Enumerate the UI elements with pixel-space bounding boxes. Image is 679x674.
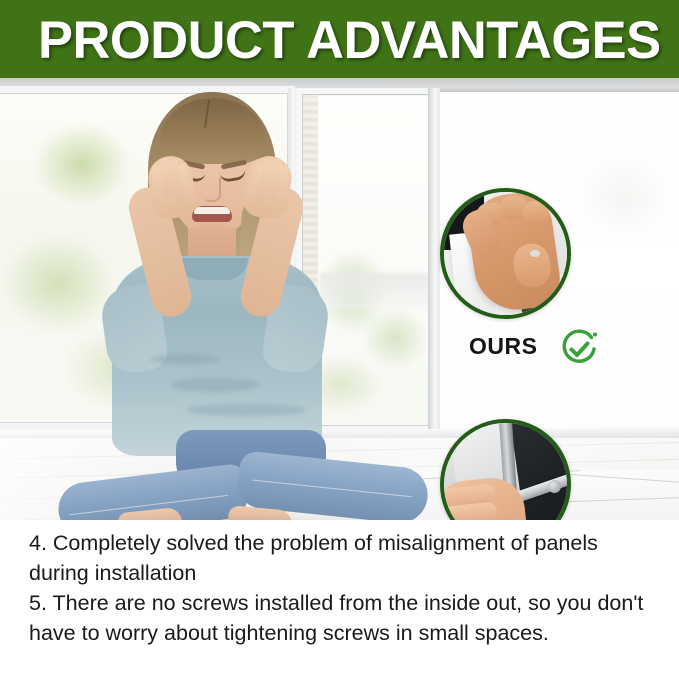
advantages-text: 4. Completely solved the problem of misa… bbox=[29, 528, 654, 648]
knuckle bbox=[511, 241, 553, 290]
comparison-photo-others bbox=[440, 419, 571, 520]
shirt-fold bbox=[170, 378, 260, 392]
mouth bbox=[192, 206, 232, 222]
tshirt-collar bbox=[178, 258, 248, 280]
check-circle-icon bbox=[558, 328, 600, 370]
comparison-photo-ours bbox=[440, 188, 571, 319]
finger bbox=[277, 164, 289, 205]
others-screw-head bbox=[548, 480, 561, 493]
denim-seam bbox=[252, 480, 411, 498]
header-banner: PRODUCT ADVANTAGES bbox=[0, 0, 679, 78]
product-advantages-page: PRODUCT ADVANTAGES bbox=[0, 0, 679, 674]
lifestyle-photo: OURS OTHERS bbox=[0, 78, 679, 520]
nose bbox=[205, 178, 221, 202]
page-title: PRODUCT ADVANTAGES bbox=[38, 13, 661, 69]
advantage-line-5: 5. There are no screws installed from th… bbox=[29, 588, 654, 648]
shirt-fold bbox=[150, 354, 220, 364]
ours-ring bbox=[530, 250, 540, 257]
advantage-line-4: 4. Completely solved the problem of misa… bbox=[29, 528, 654, 588]
shirt-fold bbox=[186, 404, 306, 416]
teeth bbox=[194, 207, 230, 214]
woman-figure bbox=[0, 78, 679, 520]
label-ours: OURS bbox=[469, 333, 537, 360]
